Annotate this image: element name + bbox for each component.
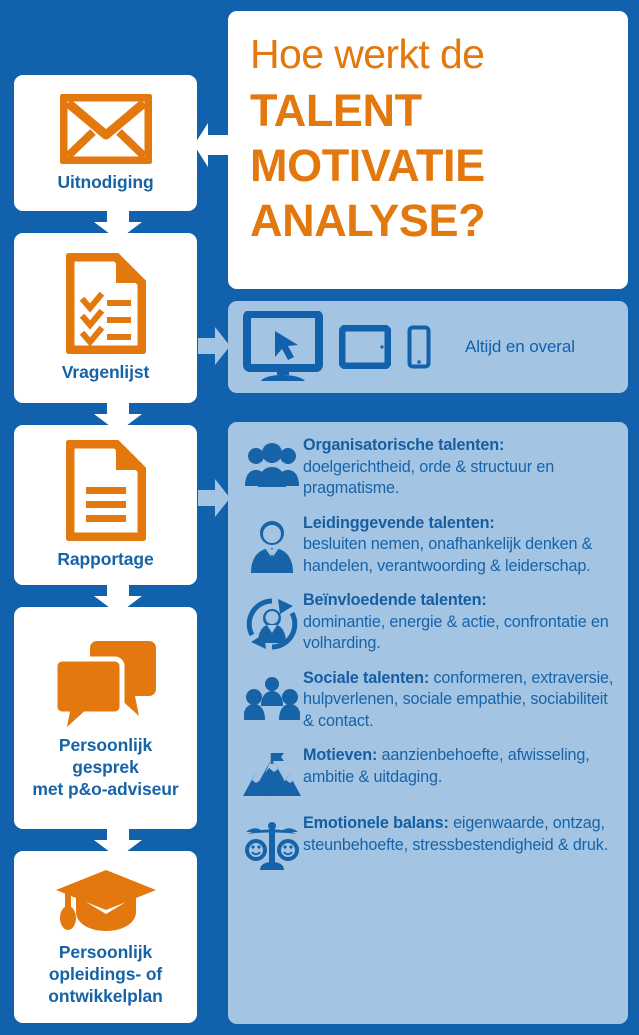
talent-item: Beïnvloedende talenten: dominantie, ener… <box>241 589 618 655</box>
talent-title: Organisatorische talenten: <box>303 436 504 454</box>
flow-step-label: Persoonlijk opleidings- of ontwikkelplan <box>48 941 162 1007</box>
talents-overview-card: Organisatorische talenten: doelgerichthe… <box>228 422 628 1024</box>
envelope-icon <box>60 94 152 164</box>
businessman-icon <box>241 512 303 574</box>
flow-step-opleidingsplan[interactable]: Persoonlijk opleidings- of ontwikkelplan <box>14 851 197 1023</box>
graduation-cap-icon <box>54 868 158 934</box>
smartphone-icon <box>407 325 431 369</box>
flow-step-vragenlijst[interactable]: Vragenlijst <box>14 233 197 403</box>
title-subtitle: Hoe werkt de <box>250 30 628 79</box>
talent-title: Sociale talenten: <box>303 669 429 687</box>
talent-title: Motieven: <box>303 746 377 764</box>
group-of-people-icon <box>241 434 303 488</box>
talent-title: Leidinggevende talenten: <box>303 514 495 532</box>
desktop-monitor-icon <box>243 311 323 383</box>
speech-bubbles-icon <box>53 637 158 727</box>
title-card: Hoe werkt de TALENT MOTIVATIE ANALYSE? <box>228 11 628 289</box>
flow-step-label: Uitnodiging <box>57 171 153 193</box>
devices-availability-card: Altijd en overal <box>228 301 628 393</box>
title-main-line-2: MOTIVATIE <box>250 138 628 193</box>
talent-item: Leidinggevende talenten: besluiten nemen… <box>241 512 618 578</box>
talent-text: Motieven: aanzienbehoefte, afwisseling, … <box>303 744 618 788</box>
social-group-icon <box>241 667 303 721</box>
infographic-canvas: Uitnodiging <box>0 0 639 1035</box>
talent-item: Motieven: aanzienbehoefte, afwisseling, … <box>241 744 618 800</box>
arrow-vragenlijst-to-devices <box>198 325 231 367</box>
talent-text: Organisatorische talenten: doelgerichthe… <box>303 434 618 500</box>
arrow-rapportage-to-talents <box>198 477 231 519</box>
talent-text: Beïnvloedende talenten: dominantie, ener… <box>303 589 618 655</box>
talent-body: besluiten nemen, onafhankelijk denken & … <box>303 535 592 575</box>
process-flow-column: Uitnodiging <box>14 0 197 1035</box>
person-influence-cycle-icon <box>241 589 303 651</box>
tablet-icon <box>339 325 391 369</box>
checklist-document-icon <box>66 253 146 354</box>
talent-item: Sociale talenten: conformeren, extravers… <box>241 667 618 733</box>
talent-item: Emotionele balans: eigenwaarde, ontzag, … <box>241 812 618 872</box>
mountain-flag-icon <box>241 744 303 800</box>
devices-label: Altijd en overal <box>465 337 575 357</box>
balance-scale-smiley-icon <box>241 812 303 872</box>
arrow-left-to-uitnodiging <box>192 120 225 162</box>
talent-title: Emotionele balans: <box>303 814 449 832</box>
talent-text: Sociale talenten: conformeren, extravers… <box>303 667 618 733</box>
talent-text: Emotionele balans: eigenwaarde, ontzag, … <box>303 812 618 856</box>
title-main-line-1: TALENT <box>250 83 628 138</box>
talent-body: doelgerichtheid, orde & structuur en pra… <box>303 458 554 498</box>
flow-step-label: Vragenlijst <box>62 361 149 383</box>
flow-step-label: Rapportage <box>57 548 153 570</box>
talent-title: Beïnvloedende talenten: <box>303 591 487 609</box>
talent-item: Organisatorische talenten: doelgerichthe… <box>241 434 618 500</box>
flow-step-persoonlijk-gesprek[interactable]: Persoonlijk gesprek met p&o-adviseur <box>14 607 197 829</box>
flow-step-uitnodiging[interactable]: Uitnodiging <box>14 75 197 211</box>
flow-step-label: Persoonlijk gesprek met p&o-adviseur <box>32 734 178 800</box>
report-document-icon <box>66 440 146 541</box>
talent-text: Leidinggevende talenten: besluiten nemen… <box>303 512 618 578</box>
flow-step-rapportage[interactable]: Rapportage <box>14 425 197 585</box>
title-main-line-3: ANALYSE? <box>250 193 628 248</box>
talent-body: dominantie, energie & actie, confrontati… <box>303 613 609 653</box>
title-main: TALENT MOTIVATIE ANALYSE? <box>250 83 628 248</box>
